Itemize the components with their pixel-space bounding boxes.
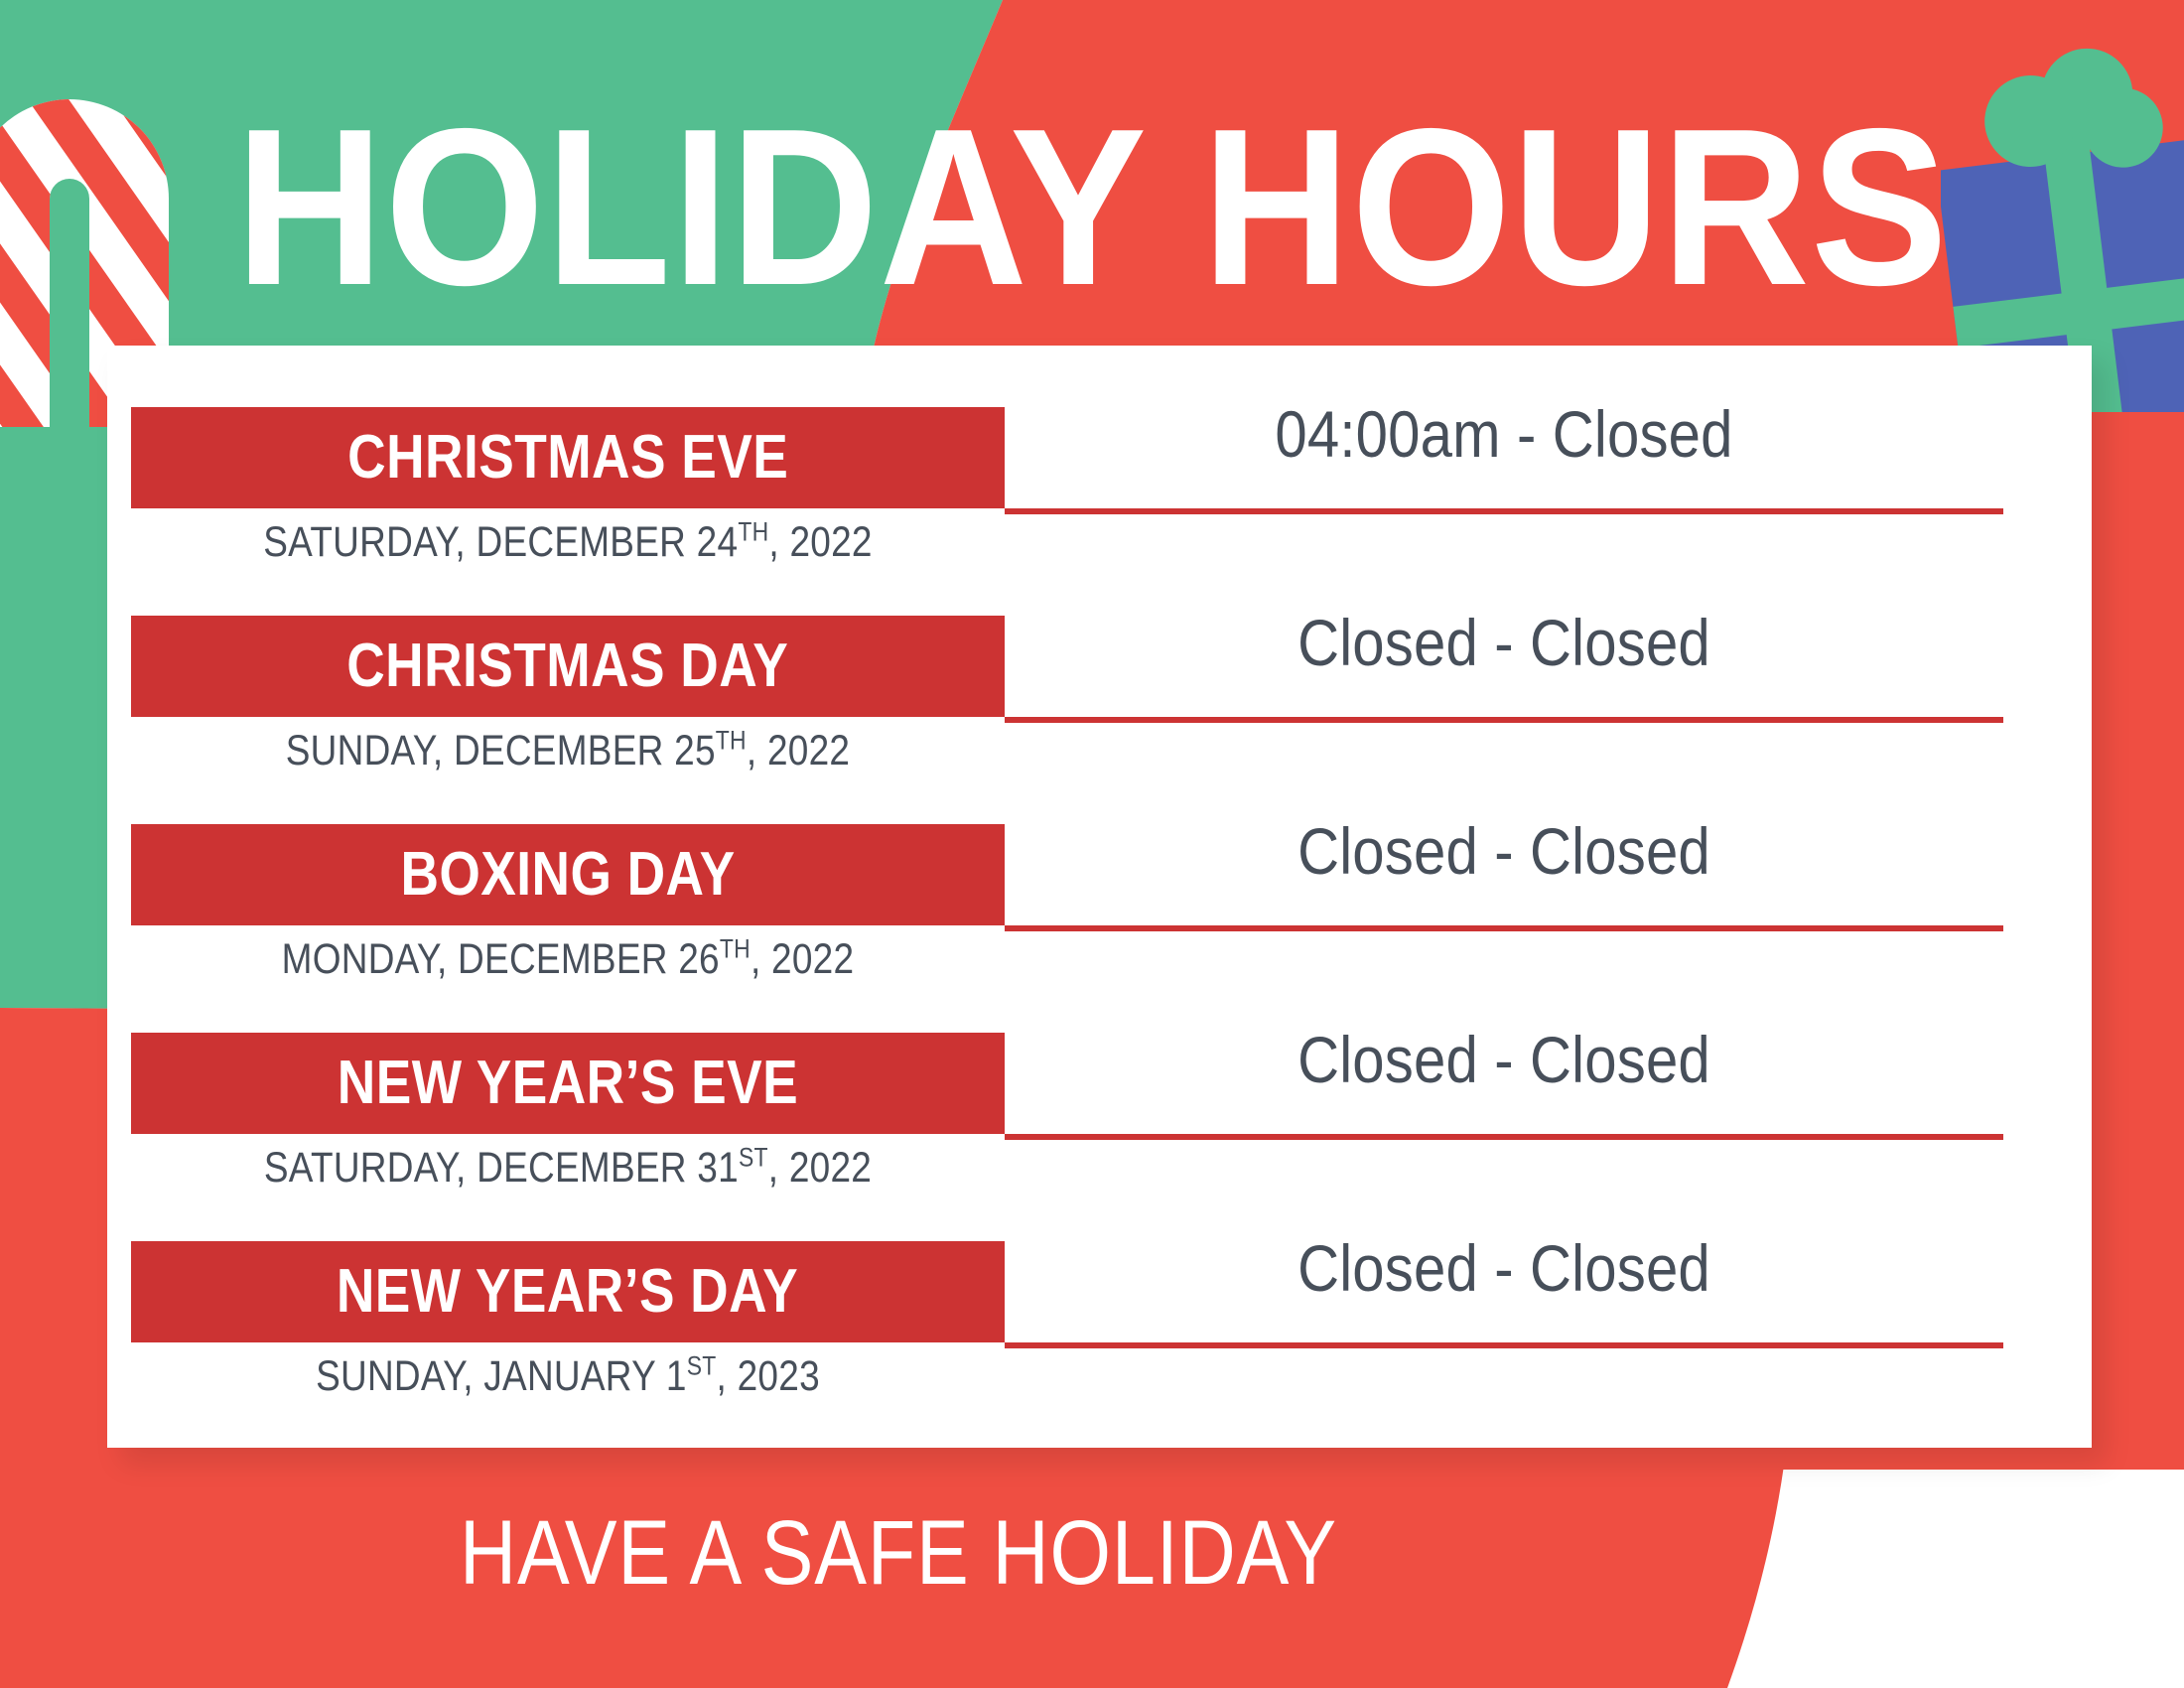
hours-value: Closed - Closed — [1064, 596, 1943, 691]
table-row: BOXING DAY MONDAY, DECEMBER 26TH, 2022 C… — [107, 824, 2092, 1033]
holiday-date-weekday: MONDAY, DECEMBER 26 — [282, 935, 720, 983]
holiday-date-ordinal: TH — [720, 934, 751, 964]
holiday-date: SATURDAY, DECEMBER 24TH, 2022 — [193, 516, 944, 570]
holiday-date-ordinal: TH — [738, 517, 768, 547]
schedule-table: CHRISTMAS EVE SATURDAY, DECEMBER 24TH, 2… — [107, 346, 2092, 1448]
holiday-name: NEW YEAR’S EVE — [338, 1053, 798, 1114]
table-row: NEW YEAR’S DAY SUNDAY, JANUARY 1ST, 2023… — [107, 1241, 2092, 1450]
hours-underline — [1005, 925, 2003, 931]
hours-underline — [1005, 717, 2003, 723]
holiday-date: MONDAY, DECEMBER 26TH, 2022 — [193, 933, 944, 987]
hours-value: 04:00am - Closed — [1064, 387, 1943, 483]
hours-cell: Closed - Closed — [1005, 804, 2003, 925]
holiday-date-ordinal: ST — [739, 1143, 768, 1173]
holiday-date: SUNDAY, JANUARY 1ST, 2023 — [193, 1350, 944, 1404]
holiday-date-weekday: SUNDAY, DECEMBER 25 — [286, 727, 716, 774]
holiday-name-band: CHRISTMAS DAY — [131, 616, 1005, 717]
holiday-name-band: NEW YEAR’S DAY — [131, 1241, 1005, 1342]
hours-cell: Closed - Closed — [1005, 596, 2003, 717]
holiday-date-year: , 2022 — [747, 727, 850, 774]
holiday-date-year: , 2022 — [768, 1144, 872, 1192]
holiday-date: SUNDAY, DECEMBER 25TH, 2022 — [193, 725, 944, 778]
holiday-name-band: CHRISTMAS EVE — [131, 407, 1005, 508]
table-row: CHRISTMAS EVE SATURDAY, DECEMBER 24TH, 2… — [107, 407, 2092, 616]
holiday-name: BOXING DAY — [400, 844, 735, 906]
holiday-date: SATURDAY, DECEMBER 31ST, 2022 — [193, 1142, 944, 1196]
footer-message: HAVE A SAFE HOLIDAY — [126, 1507, 1672, 1599]
holiday-name-band: BOXING DAY — [131, 824, 1005, 925]
hours-value: Closed - Closed — [1064, 1221, 1943, 1317]
hours-value: Closed - Closed — [1064, 1013, 1943, 1108]
hours-cell: 04:00am - Closed — [1005, 387, 2003, 508]
holiday-name: CHRISTMAS DAY — [346, 635, 788, 697]
holiday-name: NEW YEAR’S DAY — [337, 1261, 798, 1323]
page-title: HOLIDAY HOURS — [87, 95, 2097, 319]
holiday-date-weekday: SATURDAY, DECEMBER 24 — [263, 518, 738, 566]
hours-underline — [1005, 1342, 2003, 1348]
holiday-date-year: , 2022 — [768, 518, 872, 566]
holiday-name-band: NEW YEAR’S EVE — [131, 1033, 1005, 1134]
holiday-date-ordinal: ST — [687, 1351, 717, 1381]
table-row: NEW YEAR’S EVE SATURDAY, DECEMBER 31ST, … — [107, 1033, 2092, 1241]
holiday-date-year: , 2022 — [751, 935, 854, 983]
holiday-date-weekday: SATURDAY, DECEMBER 31 — [264, 1144, 739, 1192]
hours-cell: Closed - Closed — [1005, 1221, 2003, 1342]
holiday-name: CHRISTMAS EVE — [347, 427, 788, 489]
holiday-date-ordinal: TH — [716, 726, 747, 756]
hours-underline — [1005, 508, 2003, 514]
holiday-date-year: , 2023 — [717, 1352, 820, 1400]
hours-cell: Closed - Closed — [1005, 1013, 2003, 1134]
holiday-hours-poster: HOLIDAY HOURS CHRISTMAS EVE SATURDAY, DE… — [0, 0, 2184, 1688]
table-row: CHRISTMAS DAY SUNDAY, DECEMBER 25TH, 202… — [107, 616, 2092, 824]
hours-value: Closed - Closed — [1064, 804, 1943, 900]
hours-underline — [1005, 1134, 2003, 1140]
holiday-date-weekday: SUNDAY, JANUARY 1 — [316, 1352, 687, 1400]
